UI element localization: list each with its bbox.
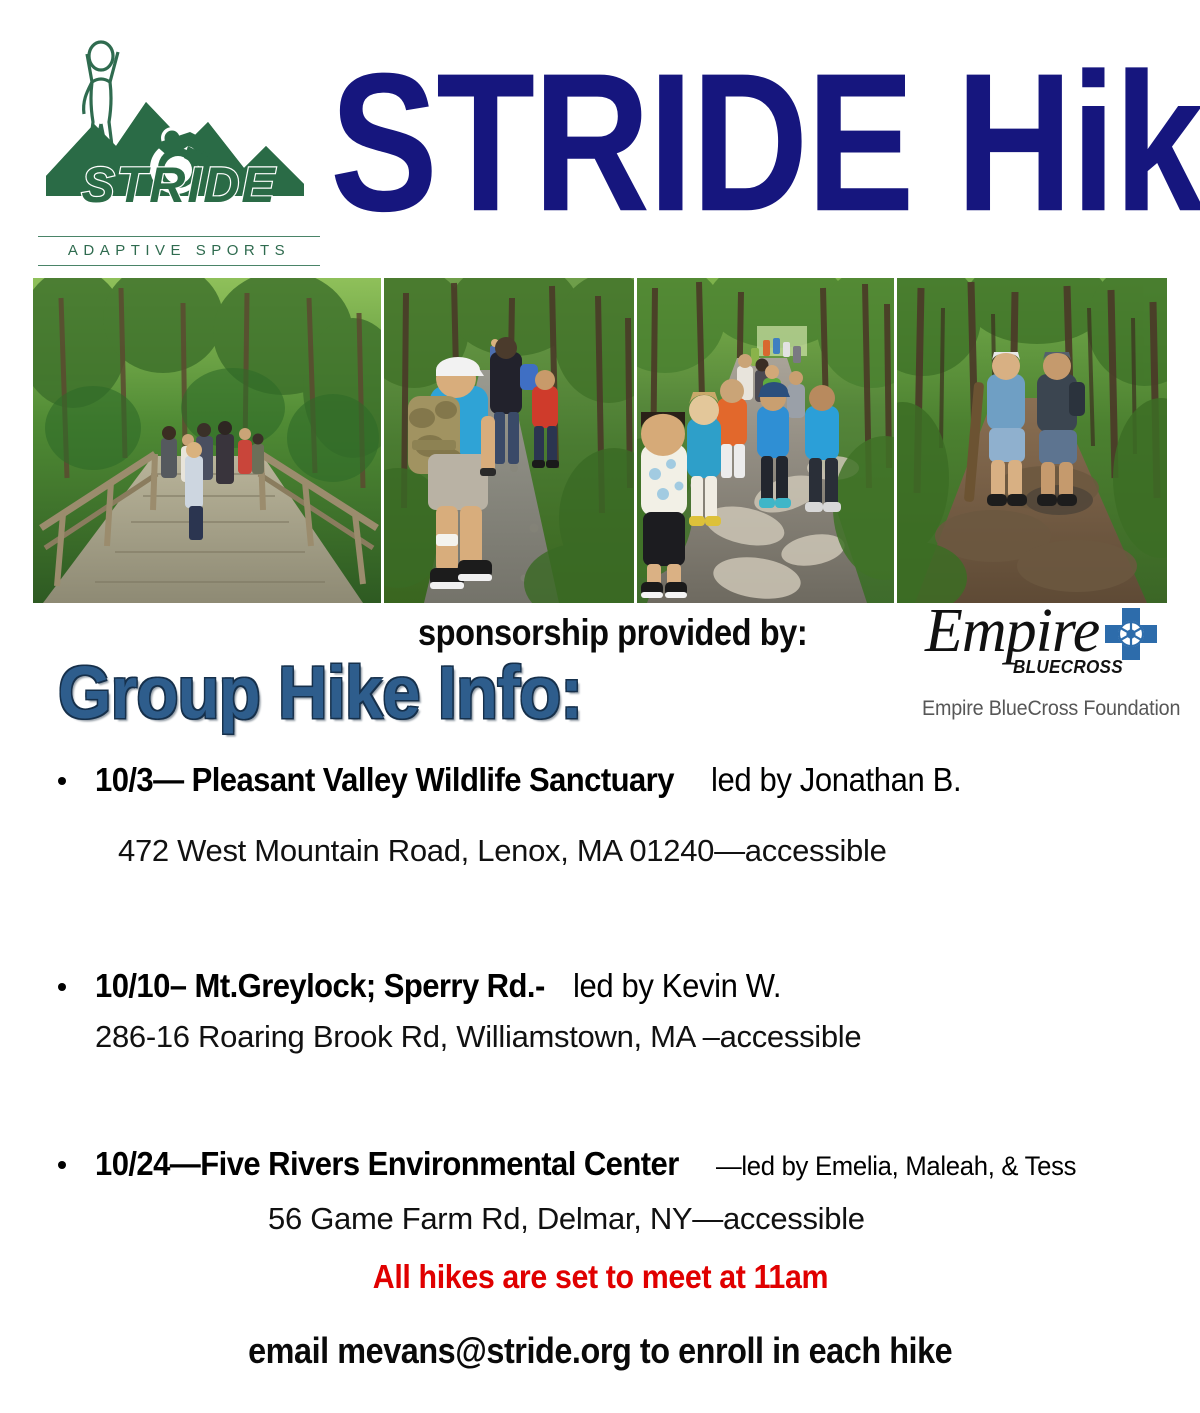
empire-wordmark: Empire [925, 600, 1099, 662]
hike-date-place: 10/3— Pleasant Valley Wildlife Sanctuary [95, 760, 674, 800]
enroll-email-text: email mevans@stride.org to enroll in eac… [248, 1330, 952, 1372]
enroll-email-line: email mevans@stride.org to enroll in eac… [0, 1330, 1200, 1372]
hike-headline: 10/10– Mt.Greylock; Sperry Rd.- led by K… [0, 966, 1200, 1006]
flyer-header: STRIDE ADAPTIVE SPORTS STRIDE Hiking [0, 0, 1200, 272]
bullet-icon [58, 1161, 66, 1169]
page-title: STRIDE Hiking [330, 14, 1121, 272]
meet-time-notice: All hikes are set to meet at 11am [0, 1258, 1200, 1296]
photo-group-rocky-trail [637, 278, 894, 603]
photo-strip [33, 278, 1167, 603]
photo-two-adult-hikers [897, 278, 1167, 603]
bluecross-cross-icon [1103, 606, 1159, 662]
stride-wordmark: STRIDE [81, 157, 276, 213]
hike-headline: 10/3— Pleasant Valley Wildlife Sanctuary… [0, 760, 1200, 800]
section-heading-group-hike-info: Group Hike Info: [58, 652, 582, 734]
empire-bluecross-logo: Empire BLUECROSS [925, 600, 1160, 680]
photo-backpack-leader [384, 278, 634, 603]
list-item: 10/24—Five Rivers Environmental Center—l… [0, 1144, 1200, 1238]
bullet-icon [58, 777, 66, 785]
empire-foundation-label: Empire BlueCross Foundation [922, 697, 1180, 721]
logo-tagline: ADAPTIVE SPORTS [38, 236, 320, 266]
hike-headline: 10/24—Five Rivers Environmental Center—l… [0, 1144, 1200, 1186]
stride-logo: STRIDE ADAPTIVE SPORTS [38, 18, 320, 266]
bullet-icon [58, 983, 66, 991]
hike-leader: —led by Emelia, Maleah, & Tess [716, 1146, 1076, 1186]
hike-date-place: 10/24—Five Rivers Environmental Center [95, 1144, 679, 1184]
list-item: 10/10– Mt.Greylock; Sperry Rd.- led by K… [0, 966, 1200, 1056]
hike-date-place: 10/10– Mt.Greylock; Sperry Rd.- [95, 966, 545, 1006]
hike-list: 10/3— Pleasant Valley Wildlife Sanctuary… [0, 760, 1200, 1238]
hike-address: 286-16 Roaring Brook Rd, Williamstown, M… [0, 1018, 1200, 1056]
hike-leader: led by Kevin W. [573, 966, 781, 1006]
stride-mountain-logo-icon: STRIDE [38, 18, 320, 233]
hike-address: 472 West Mountain Road, Lenox, MA 01240—… [0, 832, 1200, 870]
meet-time-text: All hikes are set to meet at 11am [372, 1258, 827, 1296]
sponsorship-label: sponsorship provided by: [418, 612, 807, 654]
photo-boardwalk-bridge [33, 278, 381, 603]
hike-leader: led by Jonathan B. [711, 760, 961, 800]
list-item: 10/3— Pleasant Valley Wildlife Sanctuary… [0, 760, 1200, 870]
hike-address: 56 Game Farm Rd, Delmar, NY—accessible [0, 1200, 1200, 1238]
